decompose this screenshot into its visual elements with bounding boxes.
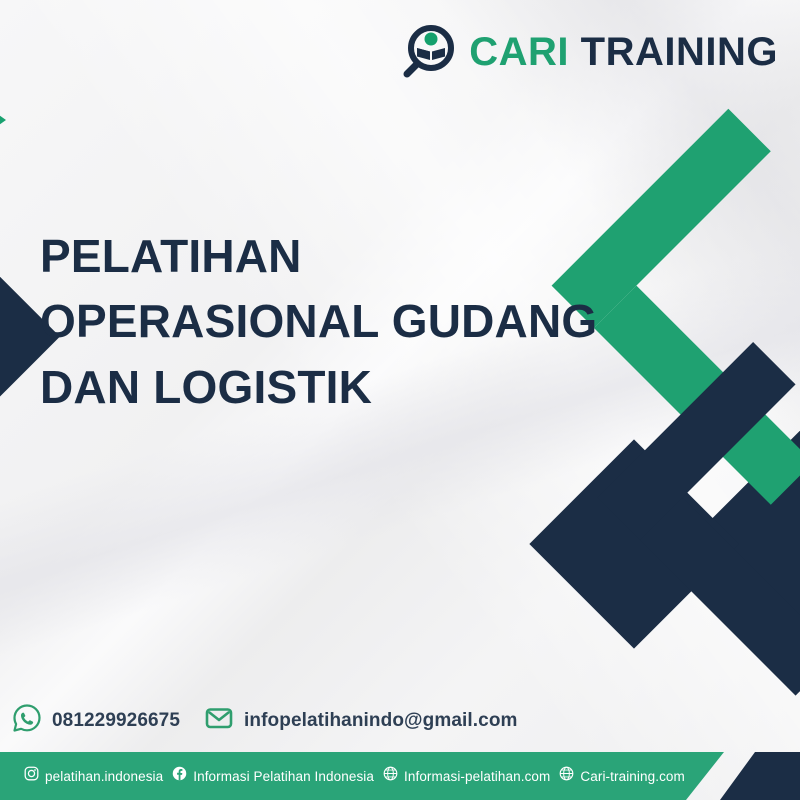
footer-navy-corner <box>715 752 800 800</box>
contact-email[interactable]: infopelatihanindo@gmail.com <box>204 703 518 738</box>
footer-item-website-1-label: Informasi-pelatihan.com <box>404 769 550 784</box>
headline-line-1: PELATIHAN <box>40 224 680 289</box>
facebook-icon <box>172 766 187 786</box>
email-icon <box>204 703 234 738</box>
top-left-green-triangle <box>0 37 6 203</box>
footer-item-instagram[interactable]: pelatihan.indonesia <box>24 766 163 786</box>
footer-bar: pelatihan.indonesia Informasi Pelatihan … <box>0 752 800 800</box>
headline-line-3: DAN LOGISTIK <box>40 355 680 420</box>
brand-name-part1: CARI <box>469 30 569 74</box>
brand-logo: CARI TRAINING <box>401 24 778 80</box>
footer-item-facebook[interactable]: Informasi Pelatihan Indonesia <box>172 766 374 786</box>
footer-item-website-2-label: Cari-training.com <box>580 769 684 784</box>
contact-whatsapp-label: 081229926675 <box>52 710 180 732</box>
page-title: PELATIHAN OPERASIONAL GUDANG DAN LOGISTI… <box>40 224 680 420</box>
footer-item-instagram-label: pelatihan.indonesia <box>45 769 163 784</box>
whatsapp-icon <box>12 703 42 738</box>
magnifier-book-icon <box>401 24 457 80</box>
contact-email-label: infopelatihanindo@gmail.com <box>244 710 518 732</box>
contact-row: 081229926675 infopelatihanindo@gmail.com <box>12 703 518 738</box>
footer-item-website-1[interactable]: Informasi-pelatihan.com <box>383 766 550 786</box>
instagram-icon <box>24 766 39 786</box>
brand-name-part2: TRAINING <box>581 30 778 74</box>
globe-icon <box>383 766 398 786</box>
brand-name: CARI TRAINING <box>469 32 778 72</box>
poster-canvas: CARI TRAINING PELATIHAN OPERASIONAL GUDA… <box>0 0 800 800</box>
globe-icon <box>559 766 574 786</box>
contact-whatsapp[interactable]: 081229926675 <box>12 703 180 738</box>
headline-line-2: OPERASIONAL GUDANG <box>40 289 680 354</box>
footer-item-website-2[interactable]: Cari-training.com <box>559 766 684 786</box>
footer-item-facebook-label: Informasi Pelatihan Indonesia <box>193 769 374 784</box>
footer-social-list: pelatihan.indonesia Informasi Pelatihan … <box>24 752 685 800</box>
